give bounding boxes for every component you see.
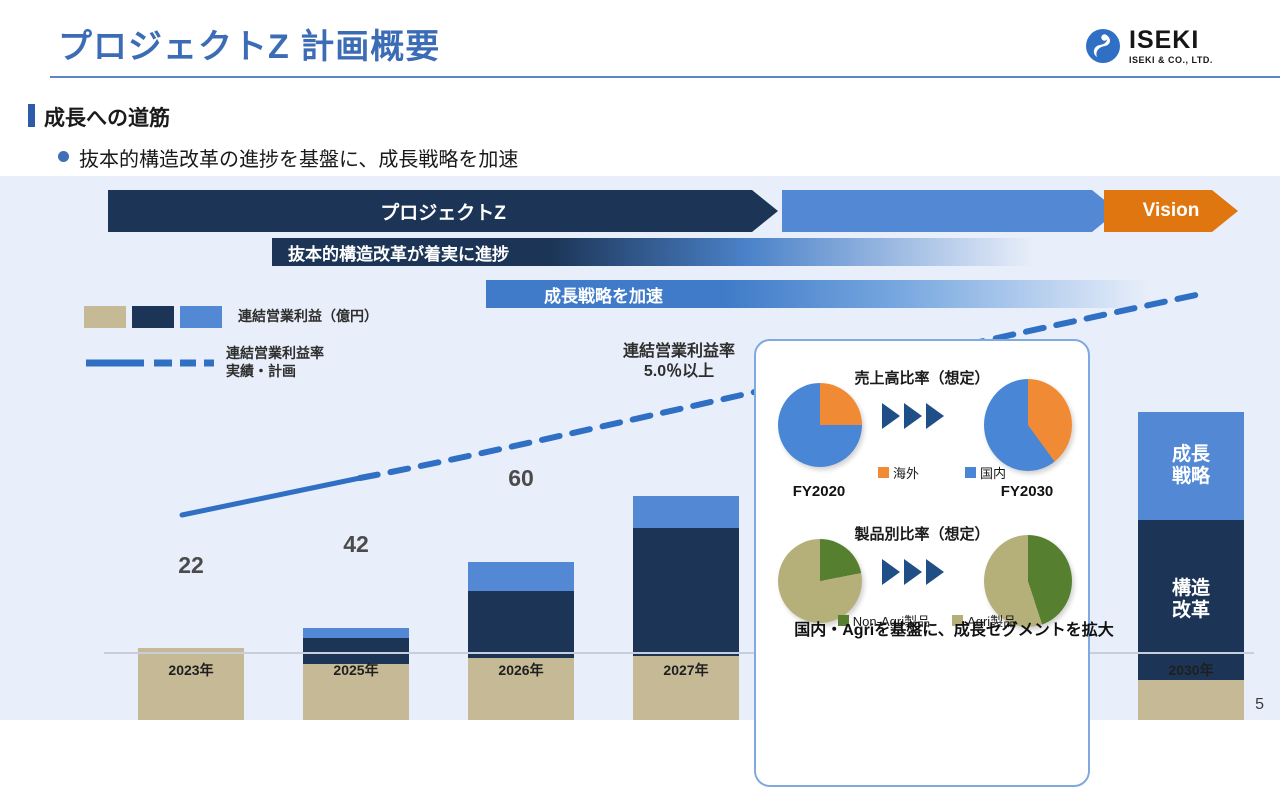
- axis-tick-2023: 2023年: [131, 660, 251, 680]
- section-heading: 成長への道筋: [44, 102, 170, 132]
- phase-chevron-project-z: プロジェクトZ: [108, 190, 778, 232]
- bullet-point-icon: [58, 151, 69, 162]
- chart-panel: プロジェクトZ Vision 抜本的構造改革が着実に進捗 成長戦略を加速 連結営…: [0, 176, 1280, 720]
- bar-value-2025: 42: [303, 531, 409, 558]
- arrow-triangle-2: [904, 559, 922, 585]
- arrow-triangle-1: [882, 403, 900, 429]
- arrow-triangle-3: [926, 559, 944, 585]
- pie-legend-item-overseas: 海外: [878, 463, 919, 482]
- section-bullet-text: 抜本的構造改革の進捗を基盤に、成長戦略を加速: [79, 143, 518, 172]
- segment-card-footer-text: 国内・Agriを基盤に、成長セグメントを拡大: [744, 616, 1164, 640]
- legend-line-sample-icon: [84, 352, 216, 374]
- bar-segment-reform: [468, 591, 574, 658]
- arrow-triangle-2: [904, 403, 922, 429]
- margin-callout-line-1: 連結営業利益率: [604, 342, 754, 362]
- axis-tick-2027: 2027年: [626, 660, 746, 680]
- axis-tick-2030: 2030年: [1131, 660, 1251, 680]
- bar-2026: [468, 562, 574, 720]
- legend-label-line-2: 実績・計画: [226, 363, 324, 381]
- pie-caption-fy2020: FY2020: [764, 483, 874, 500]
- phase-chevron-vision: Vision: [1104, 190, 1238, 232]
- pie-legend-item-domestic: 国内: [965, 463, 1006, 482]
- company-logo: ISEKI ISEKI & CO., LTD.: [1084, 22, 1244, 70]
- slide: プロジェクトZ 計画概要 ISEKI ISEKI & CO., LTD. 成長へ…: [0, 0, 1280, 720]
- legend-label-bars: 連結営業利益（億円）: [238, 308, 378, 326]
- bar-segment-reform: [633, 528, 739, 656]
- page-number: 5: [1255, 696, 1264, 714]
- triple-right-arrow-icon-2: [882, 559, 944, 585]
- bar-segment-growth: [633, 496, 739, 528]
- arrow-triangle-3: [926, 403, 944, 429]
- legend-row-bars: 連結営業利益（億円）: [84, 306, 378, 328]
- pie-caption-fy2030: FY2030: [972, 483, 1082, 500]
- bar-segment-structural-reform: 構造 改革: [1138, 520, 1244, 680]
- pie-fy2020-sales: [778, 383, 862, 467]
- bar-segment-growth: [303, 628, 409, 638]
- logo-subtitle: ISEKI & CO., LTD.: [1129, 56, 1213, 65]
- arrow-triangle-1: [882, 559, 900, 585]
- chart-legend: 連結営業利益（億円） 連結営業利益率 実績・計画: [84, 306, 378, 380]
- axis-tick-2025: 2025年: [296, 660, 416, 680]
- progress-bar-growth-strategy: 成長戦略を加速: [486, 280, 1186, 308]
- bar-segment-growth-strategy: 成長 戦略: [1138, 412, 1244, 520]
- bar-value-2023: 22: [138, 552, 244, 579]
- legend-swatch-overseas: [878, 467, 889, 478]
- pie-fy2030-sales: [984, 379, 1072, 471]
- legend-row-line: 連結営業利益率 実績・計画: [84, 345, 378, 380]
- page-title: プロジェクトZ 計画概要: [58, 19, 440, 68]
- pie-legend-sales: 海外 国内: [852, 463, 1032, 482]
- iseki-swirl-icon: [1084, 27, 1122, 65]
- legend-swatch-navy: [132, 306, 174, 328]
- legend-swatch-tan: [84, 306, 126, 328]
- triple-right-arrow-icon: [882, 403, 944, 429]
- legend-swatch-domestic: [965, 467, 976, 478]
- legend-swatch-blue: [180, 306, 222, 328]
- legend-label-overseas: 海外: [893, 463, 919, 482]
- bar-value-2026: 60: [468, 465, 574, 492]
- legend-label-line-1: 連結営業利益率: [226, 345, 324, 363]
- operating-margin-callout: 連結営業利益率 5.0％以上: [604, 342, 754, 383]
- bar-segment-growth: [468, 562, 574, 591]
- section-accent-bar: [28, 104, 35, 127]
- axis-tick-2026: 2026年: [461, 660, 581, 680]
- margin-callout-line-2: 5.0％以上: [604, 362, 754, 382]
- phase-chevron-middle: [782, 190, 1118, 232]
- logo-name: ISEKI: [1129, 28, 1213, 53]
- title-divider: [50, 76, 1280, 78]
- legend-label-line: 連結営業利益率 実績・計画: [226, 345, 324, 380]
- progress-bar-structural-reform: 抜本的構造改革が着実に進捗: [272, 238, 1092, 266]
- legend-label-domestic: 国内: [980, 463, 1006, 482]
